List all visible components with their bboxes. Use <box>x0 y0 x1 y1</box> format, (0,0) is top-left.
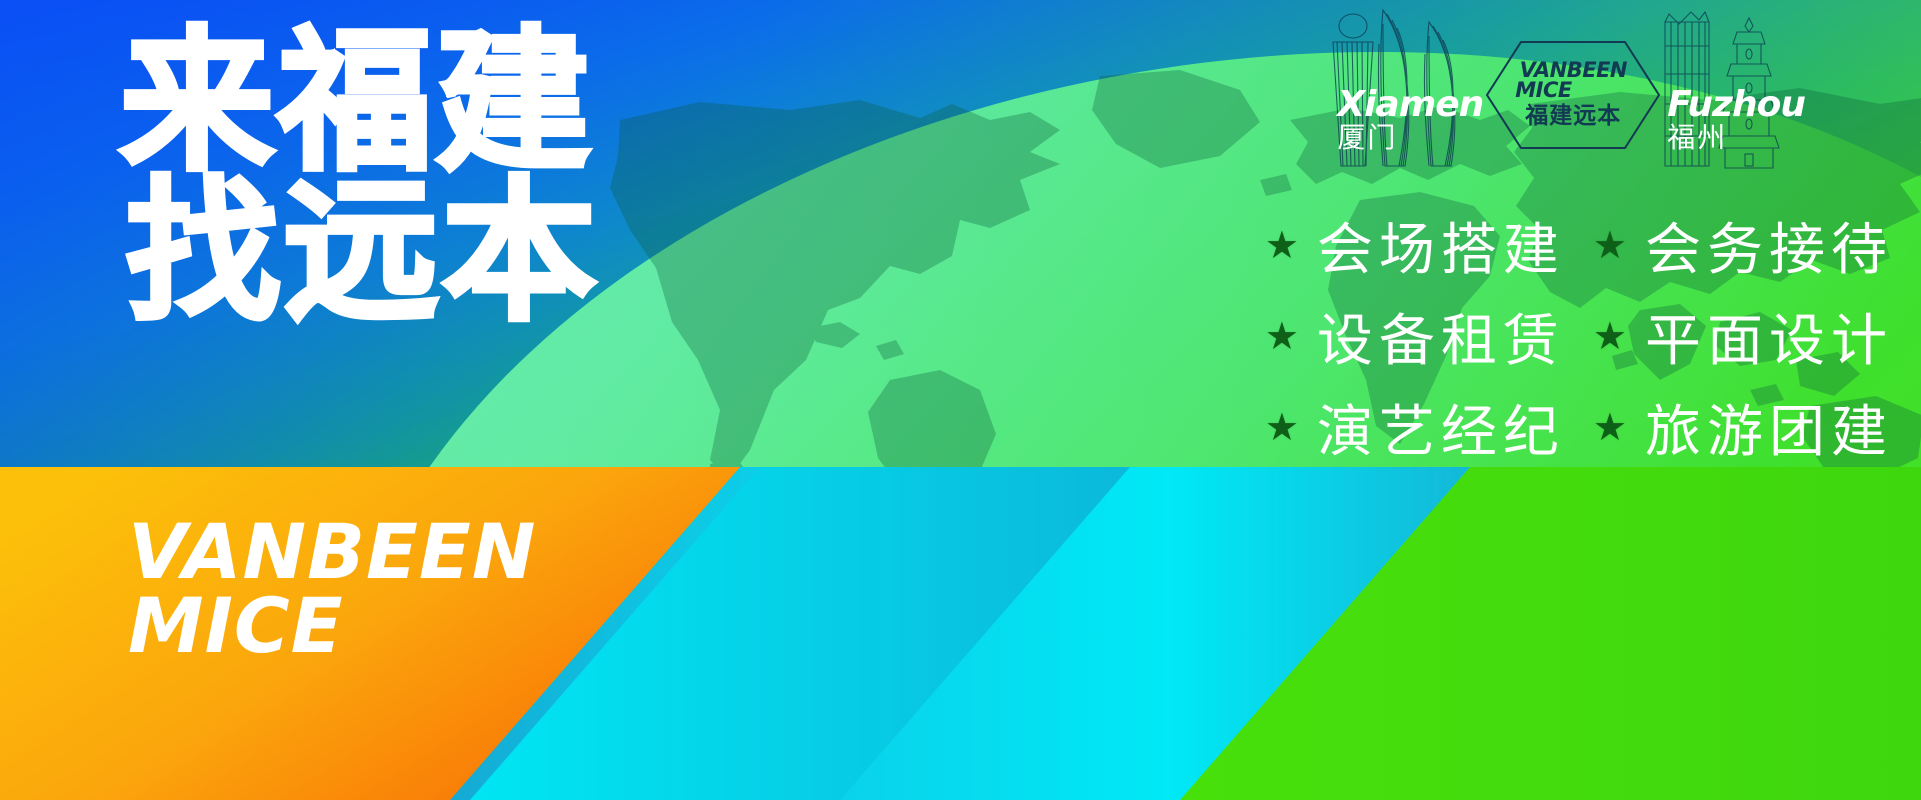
city-fuzhou-en: Fuzhou <box>1667 88 1805 122</box>
service-item: ★ 平面设计 <box>1593 296 1893 377</box>
headline-line-2: 找远本 <box>126 178 600 328</box>
service-item: ★ 旅游团建 <box>1593 387 1893 467</box>
star-icon: ★ <box>1265 409 1299 447</box>
hero-section: 来福建 找远本 <box>0 0 1921 467</box>
service-label: 会务接待 <box>1645 205 1893 286</box>
hex-logo-line-2: MICE <box>1515 80 1571 101</box>
star-icon: ★ <box>1593 318 1627 356</box>
service-item: ★ 会务接待 <box>1593 205 1893 286</box>
city-logo-cluster: Xiamen 厦门 VANBEEN MICE 福建远本 Fuz <box>1323 4 1813 172</box>
service-item: ★ 演艺经纪 <box>1265 387 1565 467</box>
city-xiamen: Xiamen 厦门 <box>1323 4 1483 172</box>
city-fuzhou: Fuzhou 福州 <box>1663 4 1813 172</box>
vanbeen-hex-logo: VANBEEN MICE 福建远本 <box>1485 40 1661 150</box>
star-icon: ★ <box>1593 227 1627 265</box>
service-label: 旅游团建 <box>1645 387 1893 467</box>
service-label: 平面设计 <box>1645 296 1893 377</box>
service-label: 设备租赁 <box>1317 296 1565 377</box>
service-label: 会场搭建 <box>1317 205 1565 286</box>
city-fuzhou-names: Fuzhou 福州 <box>1667 88 1805 172</box>
star-icon: ★ <box>1593 409 1627 447</box>
star-icon: ★ <box>1265 227 1299 265</box>
service-item: ★ 会场搭建 <box>1265 205 1565 286</box>
brand-line-2: MICE <box>128 589 536 663</box>
city-xiamen-names: Xiamen 厦门 <box>1337 88 1483 172</box>
promo-banner: 来福建 找远本 <box>0 0 1921 800</box>
service-item: ★ 设备租赁 <box>1265 296 1565 377</box>
city-xiamen-cn: 厦门 <box>1337 122 1483 154</box>
hex-logo-text: VANBEEN MICE 福建远本 <box>1485 40 1661 150</box>
headline: 来福建 找远本 <box>120 28 600 328</box>
brand-wordmark: VANBEEN MICE <box>128 515 536 663</box>
service-label: 演艺经纪 <box>1317 387 1565 467</box>
hex-logo-line-3: 福建远本 <box>1525 103 1621 129</box>
city-fuzhou-cn: 福州 <box>1667 122 1805 154</box>
bottom-brand-bar: VANBEEN MICE <box>0 467 1921 800</box>
city-xiamen-en: Xiamen <box>1337 88 1483 122</box>
star-icon: ★ <box>1265 318 1299 356</box>
services-list: ★ 会场搭建 ★ 会务接待 ★ 设备租赁 ★ 平面设计 ★ 演艺经纪 ★ 旅游团… <box>1265 205 1893 467</box>
